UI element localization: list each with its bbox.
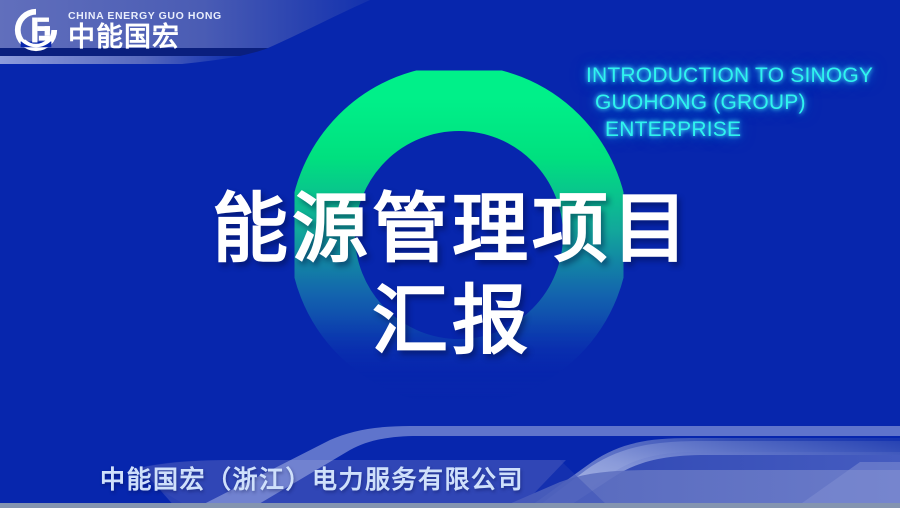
title-line-1: 能源管理项目 — [0, 183, 900, 275]
slide-header: CHINA ENERGY GUO HONG 中能国宏 — [0, 0, 900, 62]
presentation-slide: CHINA ENERGY GUO HONG 中能国宏 INTRODUCTION … — [0, 0, 900, 508]
slide-title: 能源管理项目 汇报 — [0, 183, 900, 367]
logo-chinese-name: 中能国宏 — [68, 24, 222, 51]
logo-wordmark: CHINA ENERGY GUO HONG 中能国宏 — [68, 9, 222, 51]
brand-logo[interactable]: CHINA ENERGY GUO HONG 中能国宏 — [12, 6, 222, 54]
bottom-border-strip — [0, 503, 900, 508]
footer-company-name: 中能国宏（浙江）电力服务有限公司 — [100, 460, 524, 496]
english-headline-line-3: ENTERPRISE — [586, 116, 900, 143]
title-line-2: 汇报 — [0, 275, 900, 367]
china-energy-guohong-logo-icon — [12, 6, 60, 54]
english-headline: INTRODUCTION TO SINOGY GUOHONG (GROUP) E… — [586, 62, 900, 143]
logo-english-name: CHINA ENERGY GUO HONG — [68, 11, 222, 22]
english-headline-line-2: GUOHONG (GROUP) — [586, 89, 900, 116]
english-headline-line-1: INTRODUCTION TO SINOGY — [586, 62, 900, 89]
